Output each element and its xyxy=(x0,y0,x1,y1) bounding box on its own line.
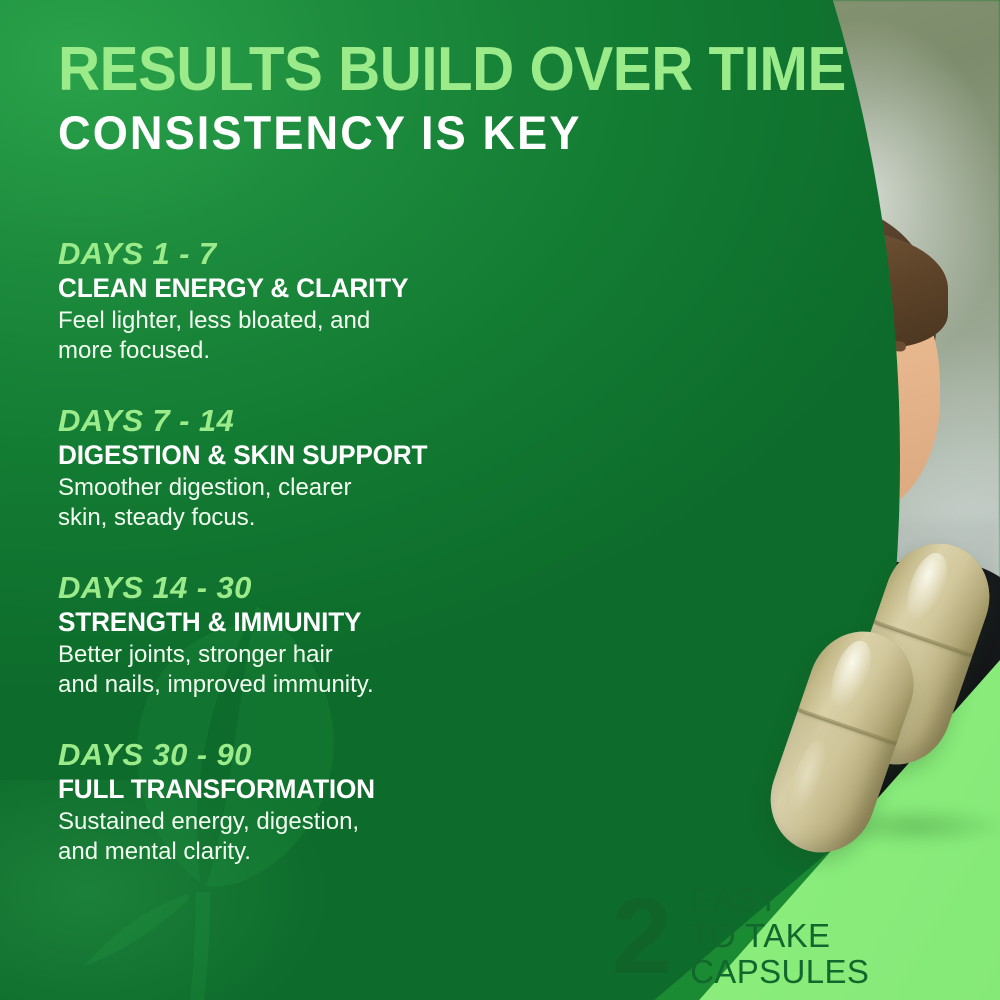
stage-description-line: Sustained energy, digestion, xyxy=(58,807,528,837)
stage-item: DAYS 7 - 14 DIGESTION & SKIN SUPPORT Smo… xyxy=(58,403,528,533)
badge-line-3: CAPSULES xyxy=(690,954,869,990)
badge-text: EASY TO TAKE CAPSULES xyxy=(690,882,869,990)
stage-description-line: skin, steady focus. xyxy=(58,503,528,533)
stage-description-line: Feel lighter, less bloated, and xyxy=(58,306,528,336)
headline-secondary: CONSISTENCY IS KEY xyxy=(58,108,922,158)
stage-title: DIGESTION & SKIN SUPPORT xyxy=(58,439,514,471)
capsule-group xyxy=(780,520,1000,900)
stage-description: Sustained energy, digestion, and mental … xyxy=(58,807,528,867)
stage-item: DAYS 14 - 30 STRENGTH & IMMUNITY Better … xyxy=(58,570,528,700)
stage-title: STRENGTH & IMMUNITY xyxy=(58,606,514,638)
headline: RESULTS BUILD OVER TIME CONSISTENCY IS K… xyxy=(58,38,958,158)
stage-item: DAYS 30 - 90 FULL TRANSFORMATION Sustain… xyxy=(58,737,528,867)
stage-days-label: DAYS 7 - 14 xyxy=(58,403,528,439)
stage-days-label: DAYS 14 - 30 xyxy=(58,570,528,606)
stage-description: Smoother digestion, clearer skin, steady… xyxy=(58,473,528,533)
badge-line-2: TO TAKE xyxy=(690,918,869,954)
headline-primary: RESULTS BUILD OVER TIME xyxy=(58,38,904,102)
capsule-dose-badge: 2 EASY TO TAKE CAPSULES xyxy=(612,882,869,990)
stage-description-line: Better joints, stronger hair xyxy=(58,640,528,670)
badge-line-1: EASY xyxy=(690,882,869,918)
promo-infographic: RESULTS BUILD OVER TIME CONSISTENCY IS K… xyxy=(0,0,1000,1000)
stage-description: Better joints, stronger hair and nails, … xyxy=(58,640,528,700)
stage-title: FULL TRANSFORMATION xyxy=(58,773,514,805)
stage-days-label: DAYS 30 - 90 xyxy=(58,737,528,773)
stage-description-line: and mental clarity. xyxy=(58,837,528,867)
stage-days-label: DAYS 1 - 7 xyxy=(58,236,528,272)
timeline-stage-list: DAYS 1 - 7 CLEAN ENERGY & CLARITY Feel l… xyxy=(58,236,528,867)
stage-description-line: more focused. xyxy=(58,336,528,366)
stage-description-line: Smoother digestion, clearer xyxy=(58,473,528,503)
stage-description-line: and nails, improved immunity. xyxy=(58,670,528,700)
badge-number: 2 xyxy=(612,886,672,986)
stage-item: DAYS 1 - 7 CLEAN ENERGY & CLARITY Feel l… xyxy=(58,236,528,366)
stage-description: Feel lighter, less bloated, and more foc… xyxy=(58,306,528,366)
stage-title: CLEAN ENERGY & CLARITY xyxy=(58,272,514,304)
